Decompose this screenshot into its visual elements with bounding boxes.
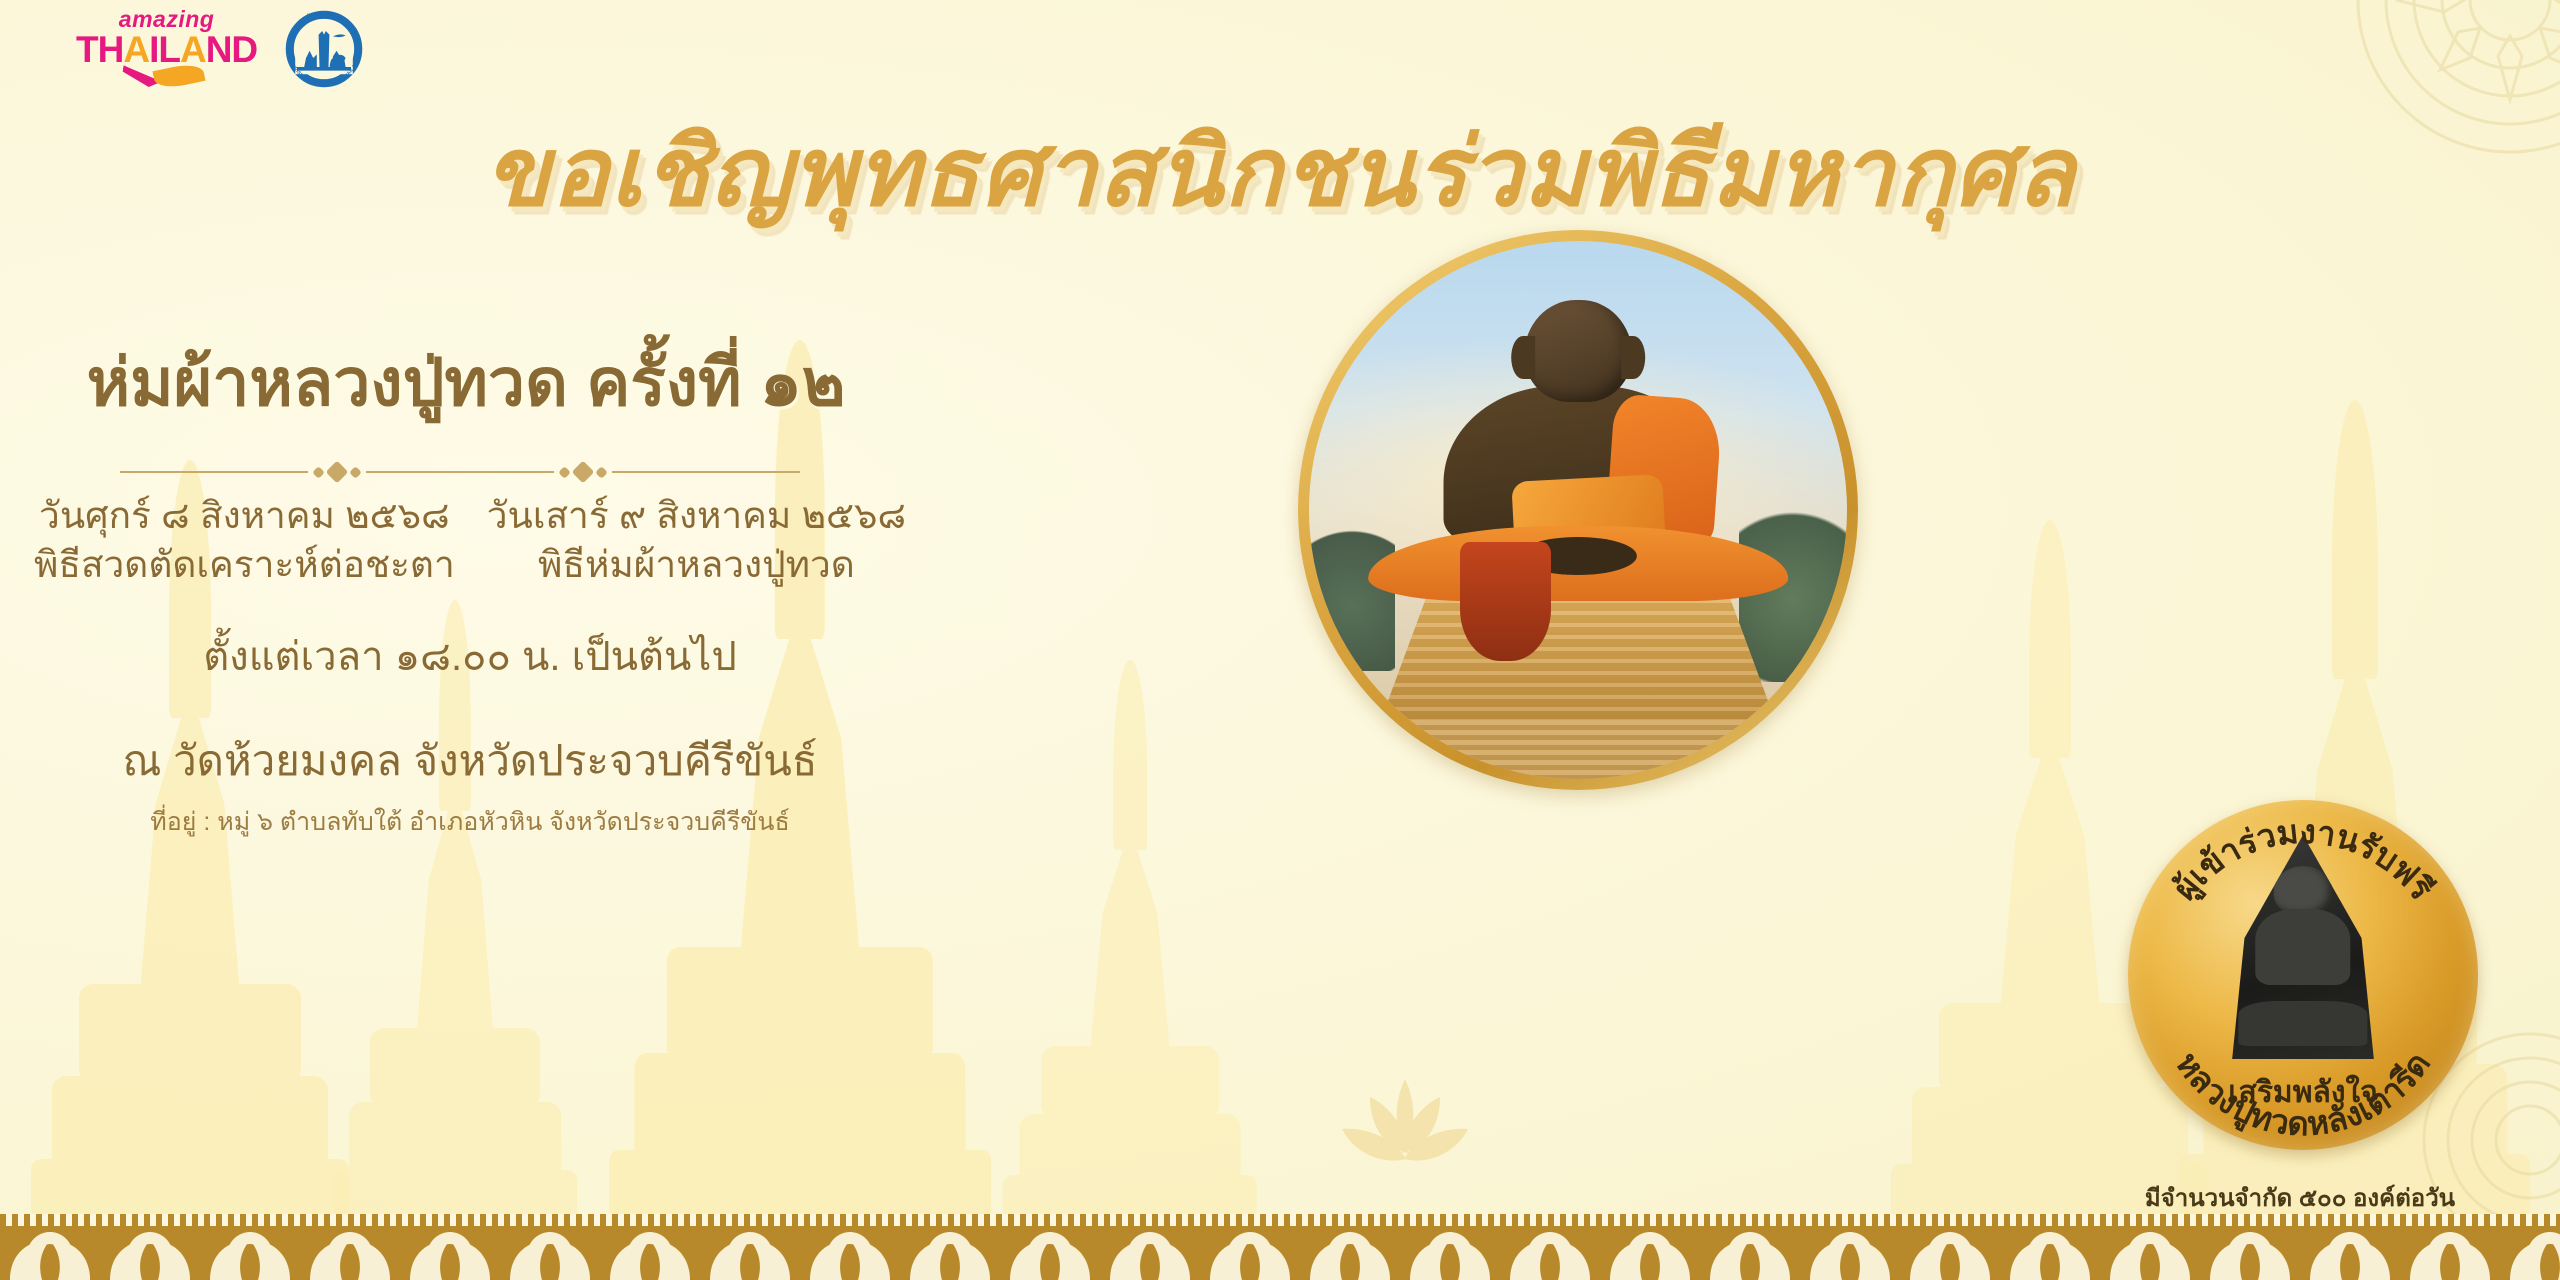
event-time: ตั้งแต่เวลา ๑๘.๐๐ น. เป็นต้นไป — [40, 624, 900, 688]
ornamental-divider — [120, 462, 800, 482]
background-pagoda-silhouette — [1010, 660, 1250, 1220]
event-title: ห่มผ้าหลวงปู่ทวด ครั้งที่ ๑๒ — [46, 330, 886, 435]
schedule-date: วันศุกร์ ๘ สิงหาคม ๒๕๖๘ — [34, 492, 455, 541]
border-pattern — [0, 1226, 2560, 1280]
headline-invitation: ขอเชิญพุทธศาสนิกชนร่วมพิธีมหากุศล — [0, 96, 2560, 248]
luang-pu-thuat-statue-photo — [1309, 241, 1847, 779]
amazing-swoosh-icon — [92, 68, 242, 90]
event-address: ที่อยู่ : หมู่ ๖ ตำบลทับใต้ อำเภอหัวหิน … — [40, 802, 900, 842]
border-dot-row — [0, 1214, 2560, 1226]
schedule-event: พิธีห่มผ้าหลวงปู่ทวด — [487, 541, 906, 590]
poster-canvas: amazing THAILAND การท่องเที่ยวแห่งประเ — [0, 0, 2560, 1280]
medallion-bottom-line: เสริมพลังใจ — [2128, 1069, 2478, 1116]
event-venue: ณ วัดห้วยมงคล จังหวัดประจวบคีรีขันธ์ — [40, 728, 900, 794]
lotus-ornament — [1330, 1075, 1480, 1185]
bottom-ornamental-border — [0, 1214, 2560, 1280]
event-details: วันศุกร์ ๘ สิงหาคม ๒๕๖๘ พิธีสวดตัดเคราะห… — [40, 492, 900, 842]
svg-text:ผู้เข้าร่วมงานรับฟรี: ผู้เข้าร่วมงานรับฟรี — [2166, 813, 2441, 909]
schedule-date: วันเสาร์ ๙ สิงหาคม ๒๕๖๘ — [487, 492, 906, 541]
schedule-day-1: วันศุกร์ ๘ สิงหาคม ๒๕๖๘ พิธีสวดตัดเคราะห… — [28, 492, 461, 590]
schedule-day-2: วันเสาร์ ๙ สิงหาคม ๒๕๖๘ พิธีห่มผ้าหลวงปู… — [481, 492, 912, 590]
schedule-event: พิธีสวดตัดเคราะห์ต่อชะตา — [34, 541, 455, 590]
logo-bar: amazing THAILAND การท่องเที่ยวแห่งประเ — [76, 4, 369, 94]
amazing-thailand-logo: amazing THAILAND — [76, 8, 257, 90]
amulet-limit-note: มีจำนวนจำกัด ๕๐๐ องค์ต่อวัน — [2060, 1178, 2540, 1217]
free-amulet-medallion: ผู้เข้าร่วมงานรับฟรี หลวงปู่ทวดหลังเตารี… — [2128, 800, 2478, 1150]
amazing-wordmark: amazing — [119, 8, 215, 31]
schedule-columns: วันศุกร์ ๘ สิงหาคม ๒๕๖๘ พิธีสวดตัดเคราะห… — [40, 492, 900, 590]
tat-logo: การท่องเที่ยวแห่งประเทศไทย TOURISM AUTHO… — [279, 4, 369, 94]
statue-photo-frame — [1298, 230, 1858, 790]
thailand-wordmark: THAILAND — [76, 31, 257, 68]
